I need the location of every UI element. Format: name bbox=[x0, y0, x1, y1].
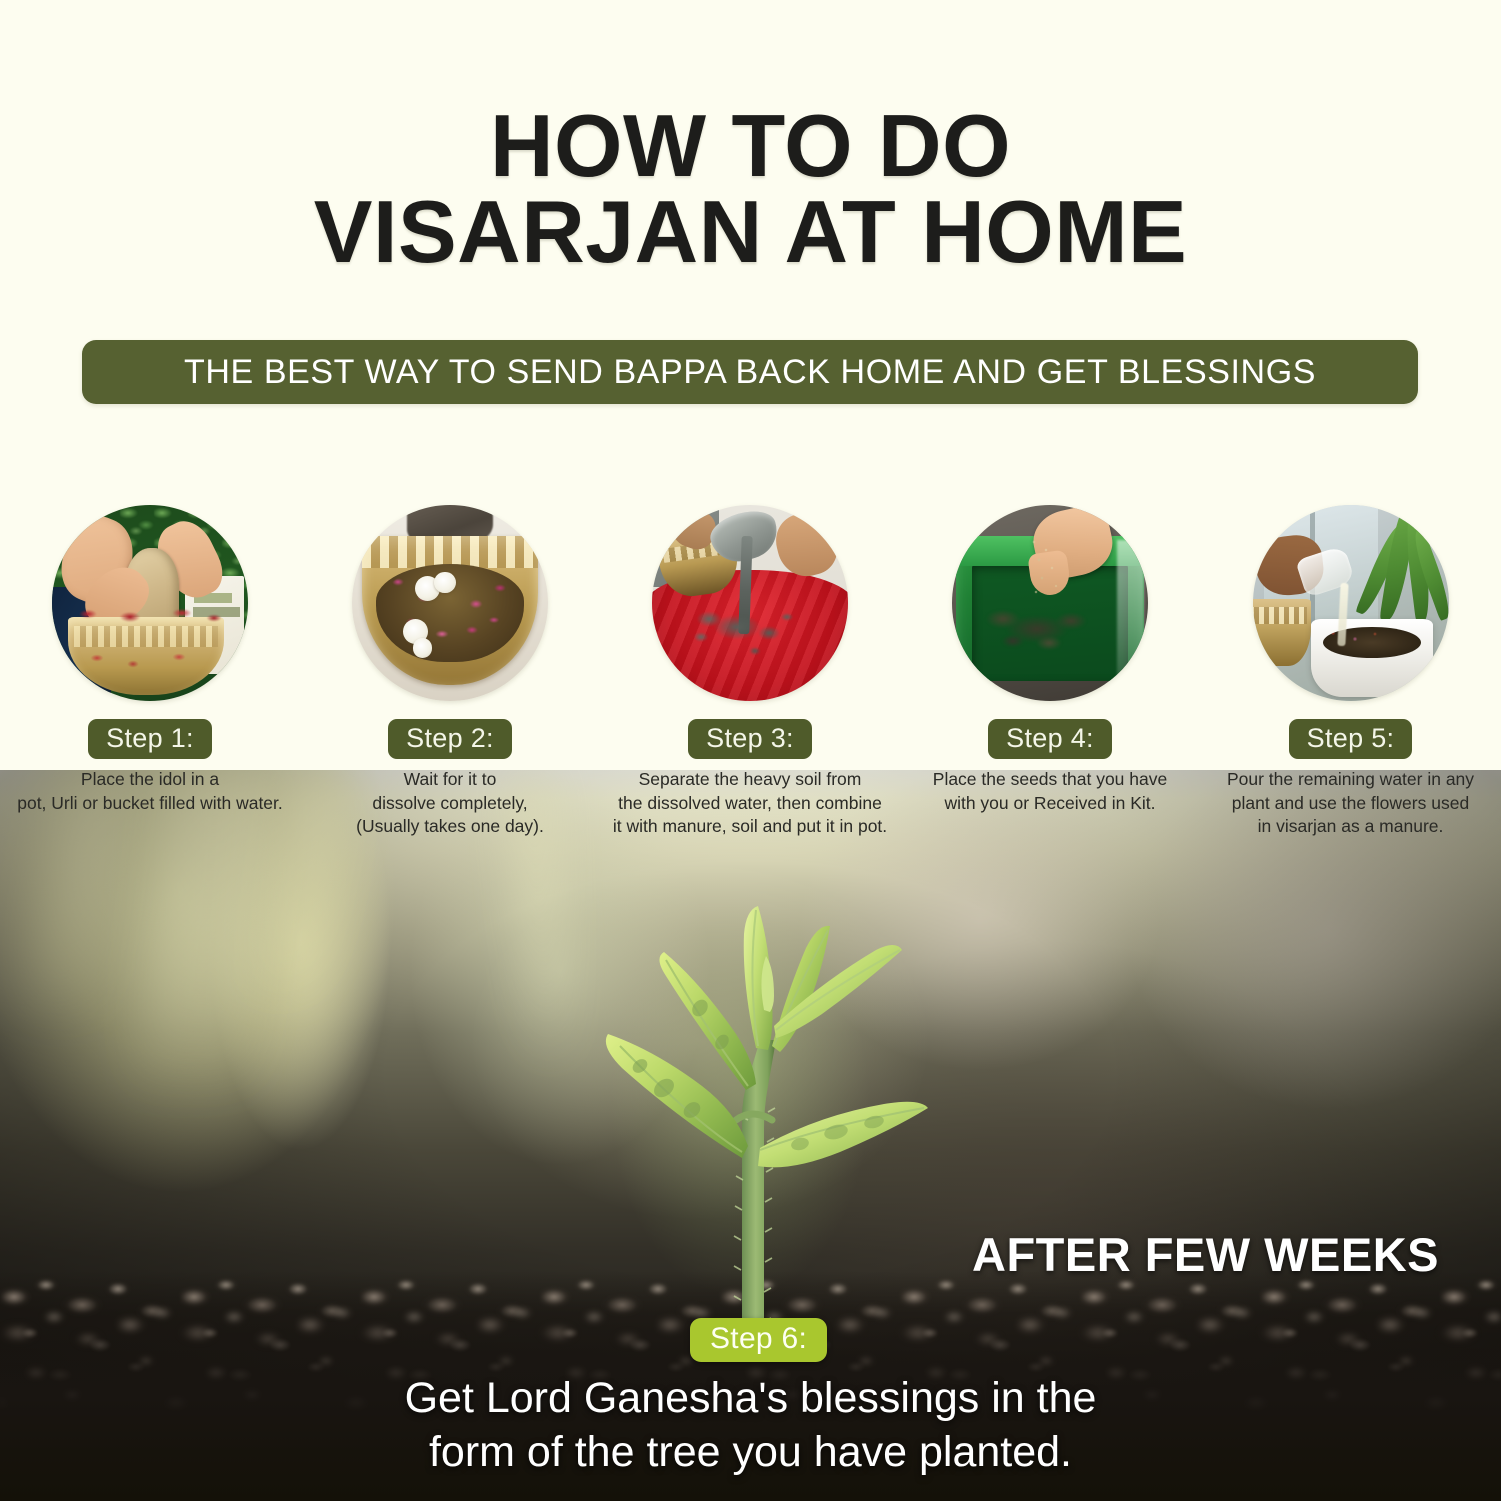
step-item-5: Step 5: Pour the remaining water in any … bbox=[1200, 505, 1501, 838]
step-3-image bbox=[652, 505, 848, 701]
page-title: HOW TO DO VISARJAN AT HOME bbox=[0, 103, 1501, 275]
red-rose-petals bbox=[72, 607, 229, 634]
urli-decorative-rim bbox=[362, 536, 538, 567]
after-few-weeks-label: AFTER FEW WEEKS bbox=[972, 1227, 1439, 1282]
title-line-1: HOW TO DO bbox=[490, 96, 1011, 195]
step-1-caption: Place the idol in a pot, Urli or bucket … bbox=[17, 768, 283, 815]
step-1-image bbox=[52, 505, 248, 701]
white-flower bbox=[434, 572, 456, 594]
step-item-1: Step 1: Place the idol in a pot, Urli or… bbox=[0, 505, 300, 838]
step-1-badge: Step 1: bbox=[88, 719, 212, 759]
step-2-caption: Wait for it to dissolve completely, (Usu… bbox=[356, 768, 544, 838]
step-2-badge: Step 2: bbox=[388, 719, 512, 759]
step-6-caption: Get Lord Ganesha's blessings in the form… bbox=[0, 1372, 1501, 1480]
step-5-caption: Pour the remaining water in any plant an… bbox=[1227, 768, 1474, 838]
step-4-caption: Place the seeds that you have with you o… bbox=[933, 768, 1167, 815]
step-4-image bbox=[952, 505, 1148, 701]
steps-row: Step 1: Place the idol in a pot, Urli or… bbox=[0, 505, 1501, 838]
clay-splatter bbox=[691, 607, 809, 678]
step-2-image bbox=[352, 505, 548, 701]
step-item-3: Step 3: Separate the heavy soil from the… bbox=[600, 505, 900, 838]
gold-urli-bowl bbox=[1253, 599, 1312, 666]
step-6-badge: Step 6: bbox=[690, 1318, 827, 1362]
step-3-badge: Step 3: bbox=[688, 719, 812, 759]
step-item-2: Step 2: Wait for it to dissolve complete… bbox=[300, 505, 600, 838]
step-3-caption: Separate the heavy soil from the dissolv… bbox=[613, 768, 887, 838]
white-flower bbox=[413, 638, 433, 658]
title-line-2: VISARJAN AT HOME bbox=[0, 189, 1501, 275]
step-5-image bbox=[1253, 505, 1449, 701]
step-5-badge: Step 5: bbox=[1289, 719, 1413, 759]
subtitle-text: THE BEST WAY TO SEND BAPPA BACK HOME AND… bbox=[184, 353, 1316, 392]
plastic-liner bbox=[1117, 540, 1144, 677]
subtitle-banner: THE BEST WAY TO SEND BAPPA BACK HOME AND… bbox=[82, 340, 1418, 404]
step-4-badge: Step 4: bbox=[988, 719, 1112, 759]
step-item-4: Step 4: Place the seeds that you have wi… bbox=[900, 505, 1200, 838]
falling-seeds bbox=[1026, 536, 1077, 618]
infographic-canvas: HOW TO DO VISARJAN AT HOME THE BEST WAY … bbox=[0, 0, 1501, 1501]
